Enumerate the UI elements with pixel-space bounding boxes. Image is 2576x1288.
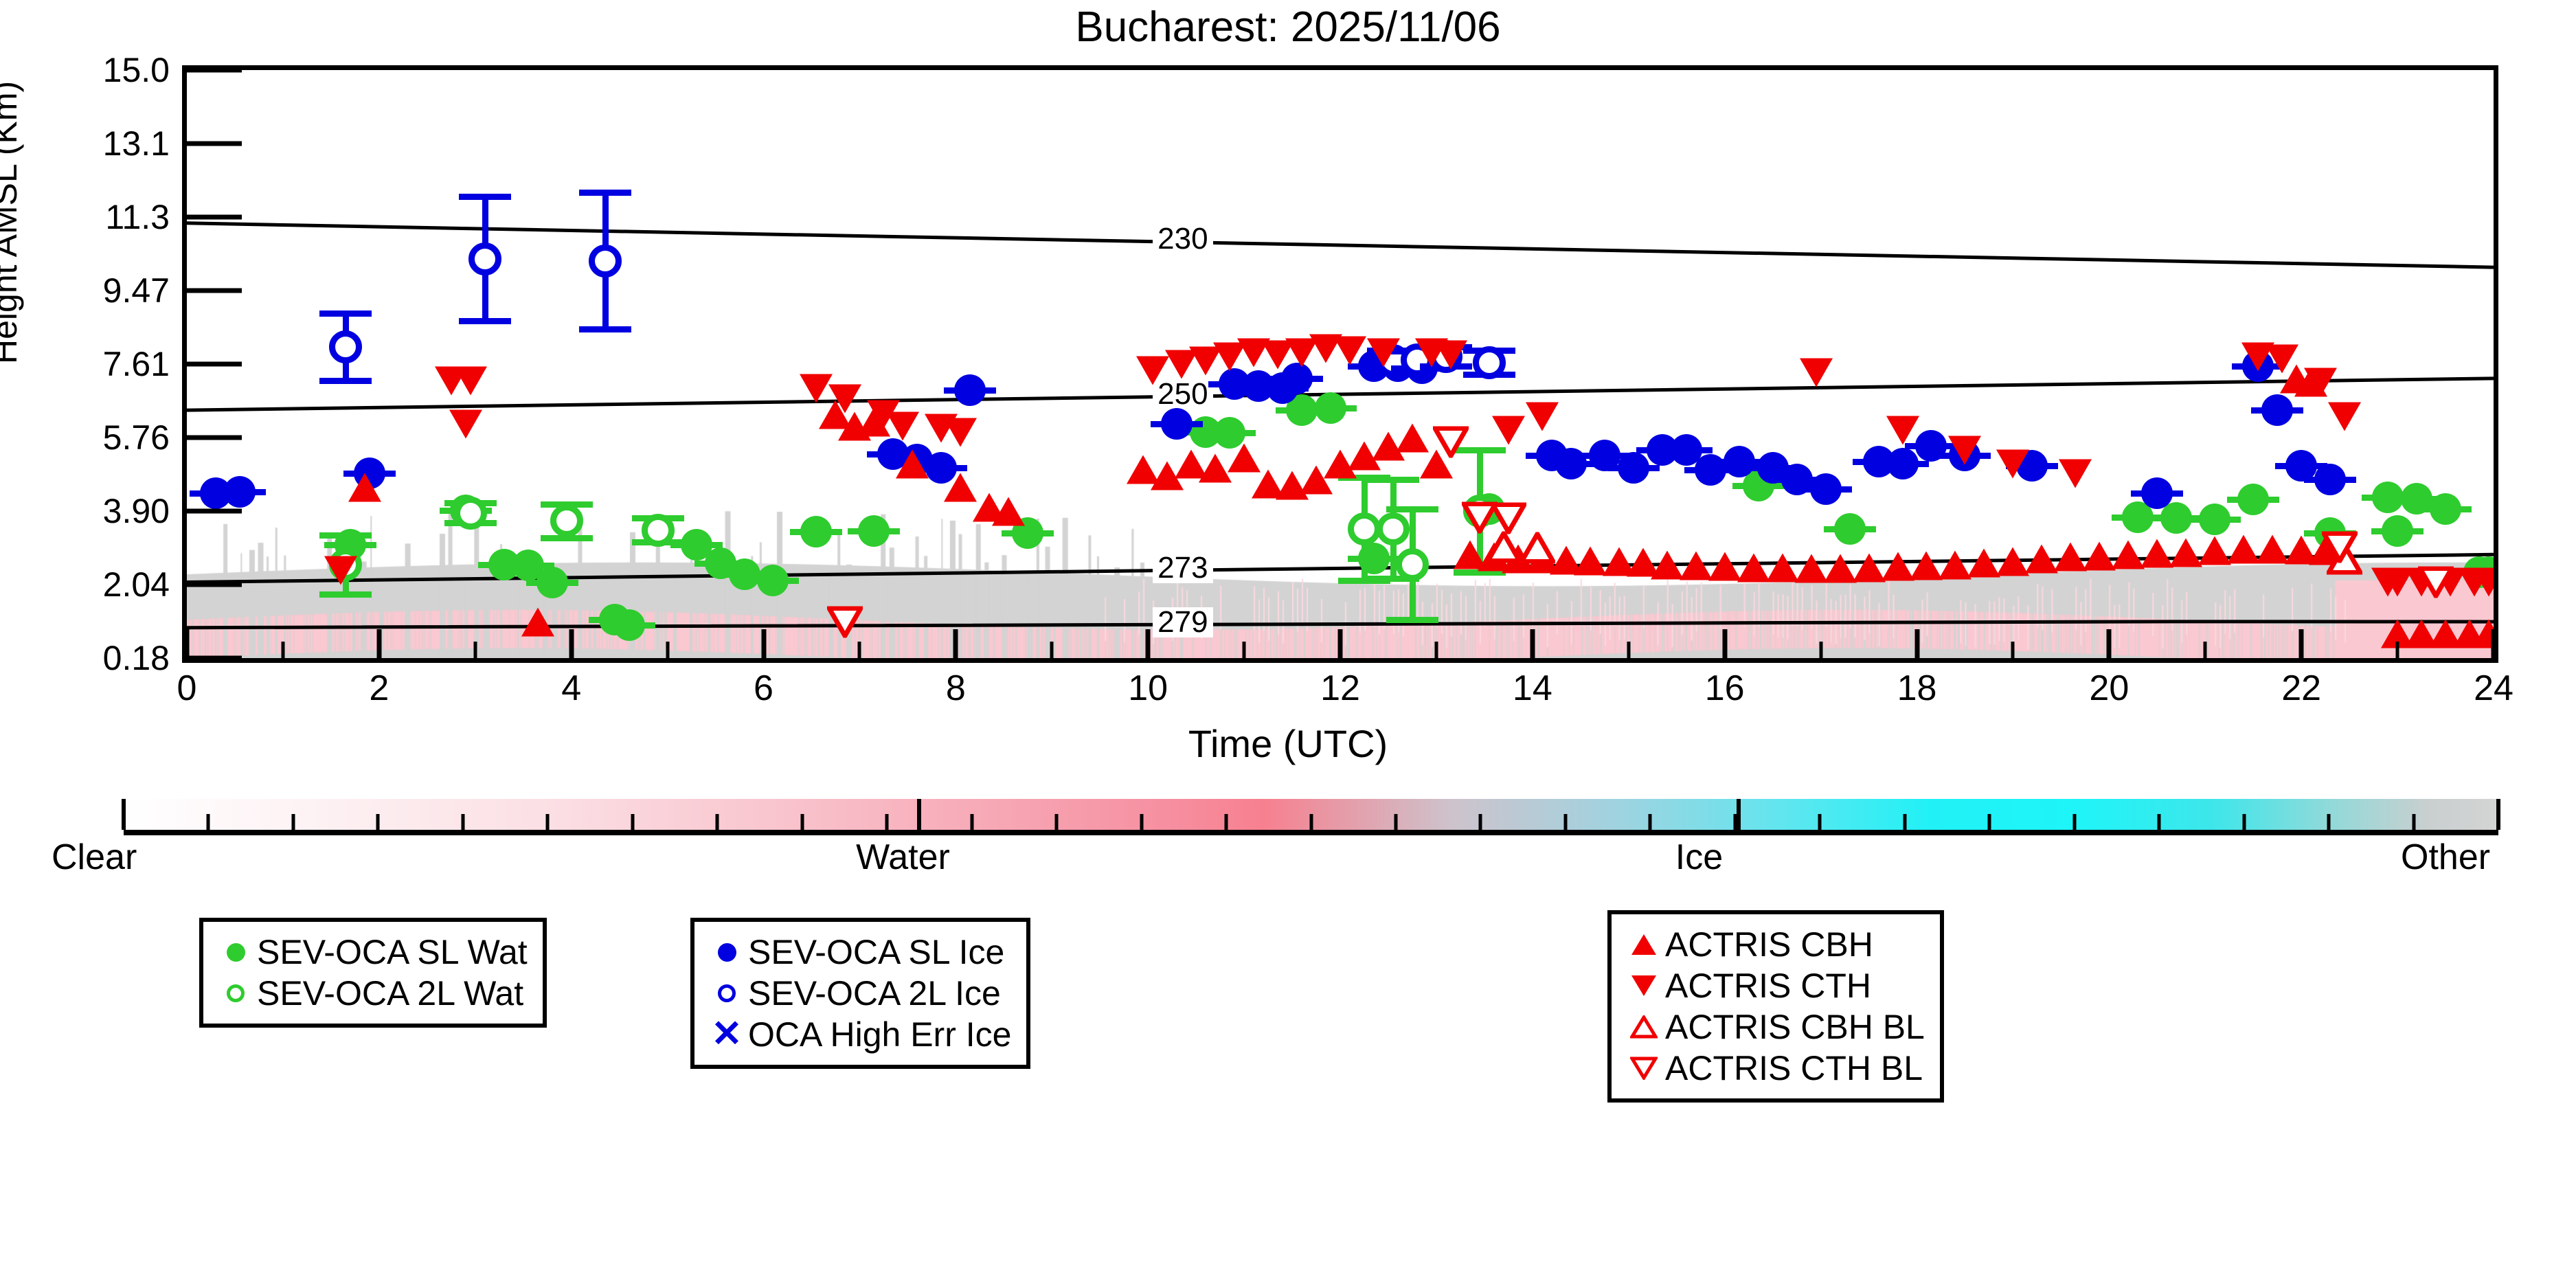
y-tick (187, 70, 242, 73)
colorbar-tick (800, 814, 804, 830)
y-tick-label: 9.47 (12, 271, 170, 310)
colorbar-axis-line (124, 830, 2498, 835)
colorbar-major-tick (917, 799, 921, 830)
actris-cth-marker (448, 409, 484, 444)
y-tick-label: 13.1 (12, 124, 170, 163)
actris-cth-marker (1332, 335, 1368, 370)
triangle-up-open-icon (1623, 1015, 1665, 1039)
legend-item[interactable]: SEV-OCA SL Wat (214, 931, 528, 973)
colorbar-major-tick (122, 799, 126, 830)
legend-item[interactable]: ✕OCA High Err Ice (705, 1014, 1011, 1055)
x-tick (2107, 629, 2112, 658)
actris-cth-marker (2303, 367, 2338, 402)
actris-cth-marker (2264, 343, 2300, 378)
colorbar-tick (716, 814, 719, 830)
circle-filled-icon (705, 943, 748, 962)
x-tick (376, 629, 381, 658)
colorbar-tick (1055, 814, 1059, 830)
legend-item-label: OCA High Err Ice (748, 1017, 1011, 1052)
circle-open-icon (705, 984, 748, 1002)
actris-cth-marker (453, 365, 488, 400)
x-tick-label: 12 (1320, 668, 1360, 709)
x-tick (1914, 629, 1919, 658)
x-tick-label: 22 (2281, 668, 2321, 709)
x-minor-tick (1819, 642, 1822, 658)
x-minor-tick (666, 642, 669, 658)
colorbar-tick (1225, 814, 1228, 830)
colorbar-label: Other (2401, 837, 2490, 878)
triangle-up-filled-icon (1623, 933, 1665, 956)
actris-cth-marker (1995, 448, 2031, 483)
y-tick (187, 362, 242, 367)
actris-cth-marker (2327, 400, 2362, 436)
water-legend[interactable]: SEV-OCA SL WatSEV-OCA 2L Wat (199, 918, 547, 1028)
y-tick-label: 5.76 (12, 418, 170, 457)
legend-item[interactable]: ACTRIS CTH BL (1623, 1048, 1925, 1089)
actris-cth-marker (1798, 357, 1834, 392)
cloud-phase-colorbar (124, 799, 2498, 830)
x-minor-tick (858, 642, 861, 658)
colorbar-major-tick (1737, 799, 1741, 830)
isotherm-label: 279 (1153, 607, 1212, 637)
y-tick (187, 142, 242, 146)
colorbar-tick (1479, 814, 1482, 830)
cloud-classification-plot[interactable]: 230250273279 (182, 65, 2498, 663)
actris-cbh-marker (991, 495, 1026, 530)
colorbar-tick (546, 814, 550, 830)
legend-item-label: SEV-OCA 2L Ice (748, 976, 1001, 1010)
x-tick-label: 16 (1705, 668, 1745, 709)
y-tick (187, 436, 242, 440)
x-tick (2299, 629, 2304, 658)
x-minor-tick (473, 642, 477, 658)
x-tick-label: 0 (177, 668, 197, 709)
legend-item[interactable]: SEV-OCA 2L Wat (214, 973, 528, 1014)
x-tick (1722, 629, 1727, 658)
y-tick-label: 3.90 (12, 491, 170, 531)
x-tick-label: 18 (1897, 668, 1937, 709)
actris-cth-marker (2370, 567, 2406, 602)
x-minor-tick (1243, 642, 1246, 658)
x-tick (2492, 629, 2494, 658)
actris-cth-marker (1491, 414, 1526, 449)
colorbar-tick (291, 814, 295, 830)
x-minor-tick (2204, 642, 2207, 658)
actris-cbh-marker (347, 472, 383, 507)
colorbar-tick (1140, 814, 1143, 830)
legend-item-label: SEV-OCA SL Wat (257, 935, 528, 969)
x-tick (953, 629, 958, 658)
x-tick-label: 8 (946, 668, 966, 709)
y-tick-label: 2.04 (12, 565, 170, 605)
colorbar-tick (2158, 814, 2161, 830)
colorbar-tick (461, 814, 464, 830)
actris-legend[interactable]: ACTRIS CBHACTRIS CTHACTRIS CBH BLACTRIS … (1607, 910, 1944, 1103)
legend-item[interactable]: ACTRIS CTH (1623, 965, 1925, 1006)
actris-cth-bl-marker (2322, 531, 2358, 566)
x-tick (761, 629, 766, 658)
actris-cth-bl-marker (827, 606, 863, 641)
colorbar-tick (1988, 814, 1991, 830)
colorbar-tick (1903, 814, 1906, 830)
actris-cbh-marker (2471, 618, 2494, 653)
x-minor-tick (281, 642, 284, 658)
plot-canvas: 230250273279 (187, 70, 2494, 658)
colorbar-label: Clear (52, 837, 137, 878)
y-tick (187, 215, 242, 220)
colorbar-tick (1818, 814, 1822, 830)
legend-item[interactable]: ACTRIS CBH BL (1623, 1006, 1925, 1048)
actris-cth-marker (1947, 434, 1982, 469)
colorbar-label: Ice (1675, 837, 1723, 878)
legend-item-label: ACTRIS CTH BL (1665, 1051, 1923, 1085)
y-tick (187, 583, 242, 587)
y-tick (187, 656, 242, 659)
actris-cth-marker (885, 411, 920, 446)
colorbar-tick (1649, 814, 1652, 830)
y-tick-label: 11.3 (12, 197, 170, 237)
colorbar-tick (1563, 814, 1567, 830)
y-tick (187, 509, 242, 514)
x-tick-label: 4 (561, 668, 581, 709)
legend-item[interactable]: SEV-OCA 2L Ice (705, 973, 1011, 1014)
actris-cth-bl-marker (2418, 567, 2454, 602)
colorbar-tick (1394, 814, 1397, 830)
actris-cth-marker (323, 555, 359, 590)
x-minor-tick (2011, 642, 2015, 658)
actris-cth-marker (2471, 567, 2494, 602)
actris-cth-marker (2057, 458, 2093, 493)
actris-cth-marker (1433, 339, 1469, 374)
legend-item-label: SEV-OCA SL Ice (748, 935, 1004, 969)
colorbar-tick (2072, 814, 2076, 830)
x-tick-label: 14 (1513, 668, 1552, 709)
x-tick-label: 24 (2474, 668, 2513, 709)
page-title: Bucharest: 2025/11/06 (0, 3, 2576, 52)
circle-filled-icon (214, 943, 257, 962)
actris-cth-marker (1366, 337, 1401, 372)
y-tick-label: 15.0 (12, 50, 170, 90)
colorbar-label: Water (856, 837, 950, 878)
x-tick (1338, 629, 1343, 658)
legend-item-label: ACTRIS CTH (1665, 969, 1871, 1003)
colorbar-tick (970, 814, 973, 830)
legend-item[interactable]: ACTRIS CBH (1623, 924, 1925, 965)
actris-cth-marker (1524, 400, 1560, 436)
x-tick (1530, 629, 1535, 658)
legend-item-label: ACTRIS CBH (1665, 927, 1873, 962)
y-tick-label: 7.61 (12, 344, 170, 384)
colorbar-tick (1309, 814, 1313, 830)
colorbar-tick (631, 814, 634, 830)
colorbar-tick (376, 814, 380, 830)
actris-cth-bl-marker (1491, 502, 1526, 537)
x-minor-tick (1627, 642, 1630, 658)
y-tick (187, 289, 242, 293)
legend-item-label: SEV-OCA 2L Wat (257, 976, 523, 1010)
colorbar-tick (2412, 814, 2415, 830)
x-tick-label: 20 (2089, 668, 2129, 709)
x-tick (187, 629, 190, 658)
x-tick (1146, 629, 1151, 658)
triangle-down-filled-icon (1623, 974, 1665, 997)
x-tick-label: 6 (754, 668, 773, 709)
actris-cth-bl-marker (1433, 427, 1469, 462)
x-tick-label: 10 (1128, 668, 1168, 709)
triangle-down-open-icon (1623, 1057, 1665, 1080)
actris-cth-marker (827, 383, 863, 418)
x-icon: ✕ (705, 1019, 748, 1049)
actris-cth-marker (942, 416, 978, 451)
colorbar-tick (2327, 814, 2331, 830)
x-minor-tick (1434, 642, 1438, 658)
actris-cbh-marker (520, 606, 556, 641)
colorbar-major-tick (2496, 799, 2500, 830)
ice-legend[interactable]: SEV-OCA SL IceSEV-OCA 2L Ice✕OCA High Er… (690, 918, 1030, 1069)
colorbar-tick (885, 814, 889, 830)
actris-cth-marker (1885, 414, 1921, 449)
x-axis-label: Time (UTC) (0, 721, 2576, 766)
legend-item[interactable]: SEV-OCA SL Ice (705, 931, 1011, 973)
x-minor-tick (2396, 642, 2399, 658)
x-tick-label: 2 (369, 668, 389, 709)
actris-cbh-bl-marker (1519, 532, 1555, 567)
colorbar-tick (2242, 814, 2246, 830)
circle-open-icon (214, 984, 257, 1002)
legend-item-label: ACTRIS CBH BL (1665, 1010, 1925, 1044)
y-tick-label: 0.18 (12, 638, 170, 678)
actris-cbh-marker (894, 448, 930, 483)
x-tick (569, 629, 574, 658)
colorbar-tick (207, 814, 210, 830)
x-minor-tick (1050, 642, 1054, 658)
